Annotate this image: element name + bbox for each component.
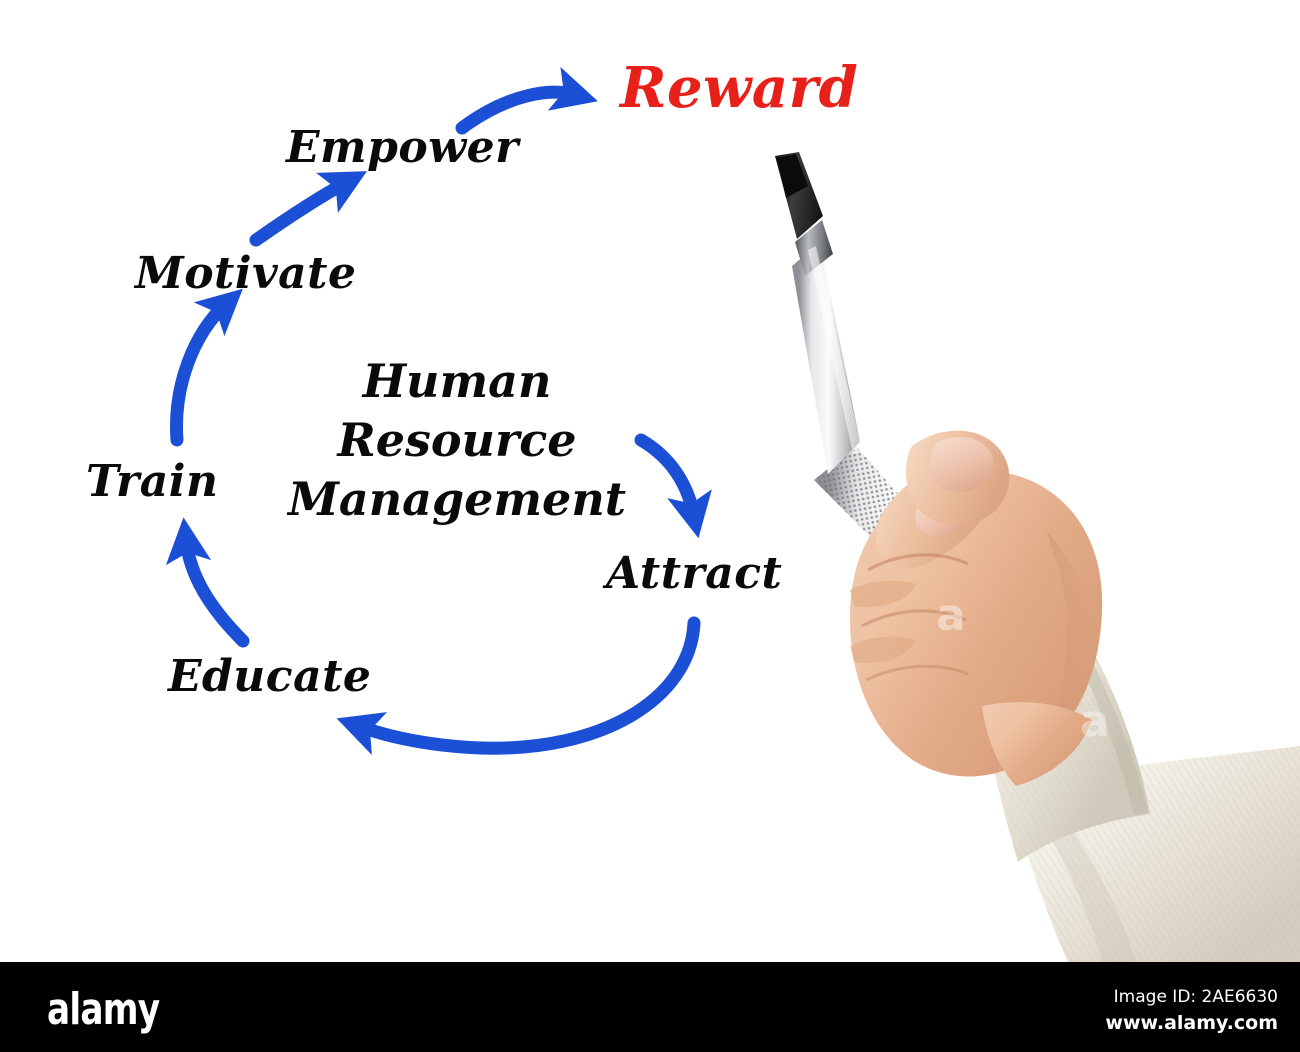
diagram-center-title: Human Resource Management [252,352,662,529]
footer-credit: Image ID: 2AE6630 www.alamy.com [1105,985,1278,1037]
node-label-train: Train [86,460,218,504]
arrow-train-to-motivate [177,304,226,440]
alamy-logo: alamy [47,988,159,1032]
node-label-empower: Empower [286,126,519,170]
arrow-educate-to-train [186,540,243,641]
node-label-educate: Educate [168,655,371,699]
node-label-motivate: Motivate [135,252,357,296]
node-label-reward: Reward [620,60,858,116]
center-title-line-3: Management [252,470,662,529]
arrow-motivate-to-empower [256,182,347,240]
alamy-url-text[interactable]: www.alamy.com [1105,1010,1278,1038]
image-id-text: Image ID: 2AE6630 [1105,985,1278,1010]
screenshot-stage: Empower Reward Motivate Train Educate At… [0,0,1300,1052]
center-title-line-2: Resource [252,411,662,470]
arrow-attract-to-educate [358,623,694,748]
center-title-line-1: Human [252,352,662,411]
node-label-attract: Attract [606,552,782,596]
